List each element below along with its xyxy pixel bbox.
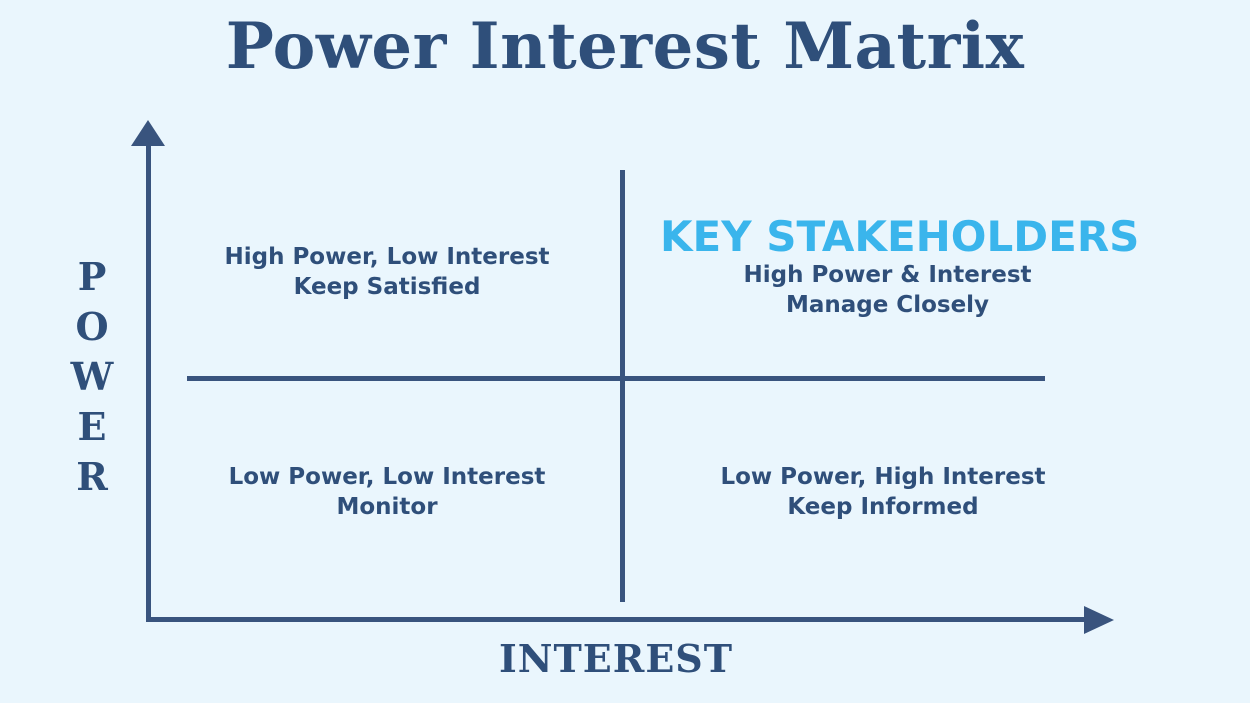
y-axis-title-letter: P [62,252,122,302]
quadrant-label-line2: Monitor [187,492,587,522]
y-axis-title: P O W E R [62,252,122,502]
x-axis-title: INTEREST [146,636,1086,681]
x-axis-arrow-icon [1084,606,1114,634]
y-axis-title-letter: O [62,302,122,352]
page-title: Power Interest Matrix [0,12,1250,82]
quadrant-headline: KEY STAKEHOLDERS [660,214,1115,260]
quadrant-low-power-low-interest: Low Power, Low Interest Monitor [187,462,587,522]
y-axis-title-letter: W [62,352,122,402]
quadrant-label-line2: Manage Closely [660,290,1115,320]
y-axis-arrow-icon [131,120,165,146]
quadrant-divider-vertical [620,170,625,602]
quadrant-label-line1: High Power, Low Interest [187,242,587,272]
y-axis-line [146,142,151,622]
quadrant-low-power-high-interest: Low Power, High Interest Keep Informed [658,462,1108,522]
quadrant-label-line2: Keep Satisfied [187,272,587,302]
quadrant-key-stakeholders: KEY STAKEHOLDERS High Power & Interest M… [660,214,1115,320]
quadrant-divider-horizontal [187,376,1045,381]
power-interest-matrix-canvas: Power Interest Matrix P O W E R INTEREST… [0,0,1250,703]
quadrant-label-line2: Keep Informed [658,492,1108,522]
quadrant-label-line1: High Power & Interest [660,260,1115,290]
quadrant-label-line1: Low Power, Low Interest [187,462,587,492]
x-axis-line [146,617,1086,622]
quadrant-label-line1: Low Power, High Interest [658,462,1108,492]
y-axis-title-letter: E [62,402,122,452]
quadrant-high-power-low-interest: High Power, Low Interest Keep Satisfied [187,242,587,302]
y-axis-title-letter: R [62,452,122,502]
